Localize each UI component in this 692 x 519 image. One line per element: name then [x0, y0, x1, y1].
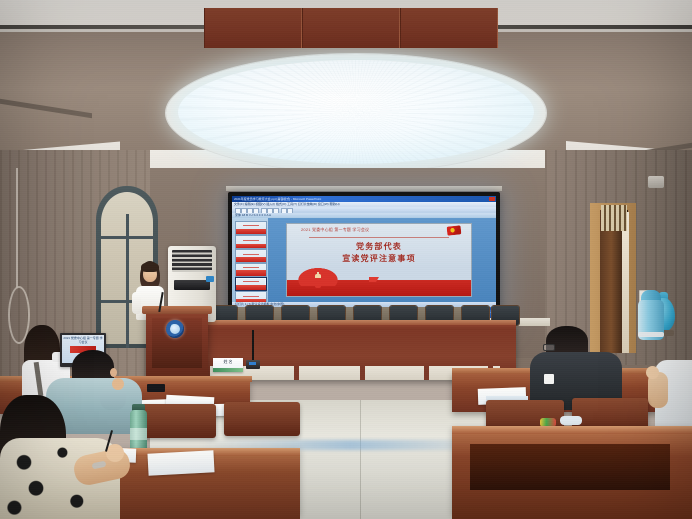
- projection-screen[interactable]: 2021年度党员学习教育大会.ppt [兼容模式] - Microsoft Po…: [232, 196, 496, 318]
- door-light-gap: [622, 212, 629, 353]
- window-transom: [101, 236, 153, 239]
- audience-chair[interactable]: [224, 402, 300, 436]
- emblem-inner-icon: [170, 324, 180, 334]
- close-icon[interactable]: [489, 197, 495, 201]
- face-mask-on-desk: [560, 416, 582, 425]
- slide-thumbnail-pane[interactable]: [232, 218, 269, 302]
- current-slide[interactable]: 2021 党委中心组 第一专题 学习会议 党务部代表 宣读党评注意事项: [286, 223, 472, 297]
- eyeglasses-icon: [543, 344, 555, 351]
- podium-top: [142, 306, 212, 314]
- ac-badge-icon: [206, 276, 214, 282]
- attendee-badge: [544, 374, 554, 384]
- head-table-top: [196, 320, 516, 325]
- desk-monitor-text: 2021 党委中心组 第一专题 学习会议: [63, 336, 103, 344]
- powerpoint-title-text: 2021年度党员学习教育大会.ppt [兼容模式] - Microsoft Po…: [234, 197, 321, 201]
- desk-paper: [147, 450, 214, 475]
- window-mullion: [126, 214, 129, 348]
- party-emblem-icon: [447, 225, 462, 235]
- audience-chair[interactable]: [140, 404, 216, 438]
- slide-title-line-1: 党务部代表: [287, 241, 471, 252]
- right-desk-shelf: [470, 444, 670, 490]
- conference-room-photo: 2021年度党员学习教育大会.ppt [兼容模式] - Microsoft Po…: [0, 0, 692, 519]
- slide-thumbnail[interactable]: [235, 221, 267, 235]
- right-foreground-desk-top: [452, 426, 692, 434]
- ac-control-panel[interactable]: [174, 280, 210, 290]
- attendee-woman-right-hand: [646, 366, 659, 379]
- slide-header-rule: [309, 237, 449, 238]
- head-table-panel: [400, 8, 498, 48]
- figure-silhouette: [315, 274, 321, 288]
- microphone-led-indicator: [249, 362, 256, 365]
- ceiling-speaker-icon: [648, 176, 664, 188]
- smartphone[interactable]: [147, 384, 165, 392]
- slide-header-text: 2021 党委中心组 第一专题 学习会议: [301, 227, 369, 233]
- speaker-fringe: [141, 262, 159, 272]
- light-strip-above-screen: [226, 186, 502, 191]
- head-table-panel: [204, 8, 302, 48]
- slide-thumbnail[interactable]: [235, 235, 267, 249]
- water-bottle-label: [130, 428, 147, 440]
- gooseneck-microphone: [252, 330, 254, 361]
- slide-title-line-2: 宣读党评注意事项: [287, 253, 471, 264]
- menu-bar-text: 文件(F) 编辑(E) 视图(V) 插入(I) 格式(O) 工具(T) 幻灯片放…: [234, 202, 340, 206]
- table-leg: [294, 366, 299, 380]
- slide-thumbnail[interactable]: [235, 249, 267, 263]
- attendee-man-hand: [112, 378, 124, 390]
- ac-vent-grille: [172, 250, 212, 272]
- speaker-arm: [132, 292, 141, 314]
- attendee-man-arm: [100, 386, 126, 410]
- attendee-man-ear: [110, 368, 117, 377]
- slide-thumbnail[interactable]: [235, 263, 267, 277]
- floor-tile-seam: [360, 400, 361, 519]
- table-leg: [424, 366, 429, 380]
- head-table-panel: [302, 8, 400, 48]
- water-dispenser-base: [638, 332, 664, 337]
- hanging-cord: [16, 168, 18, 288]
- oval-light-led-dots: [178, 60, 534, 164]
- door-transom-grille: [601, 205, 627, 231]
- name-card-base: [213, 368, 243, 372]
- name-card-text: 姓 名: [215, 359, 241, 365]
- table-leg: [360, 366, 365, 380]
- formatting-toolbar-text: 宋体 18 B I U S ≡ ≡ ≡ ≡ A A: [235, 213, 271, 217]
- slide-thumbnail-selected[interactable]: [235, 277, 267, 291]
